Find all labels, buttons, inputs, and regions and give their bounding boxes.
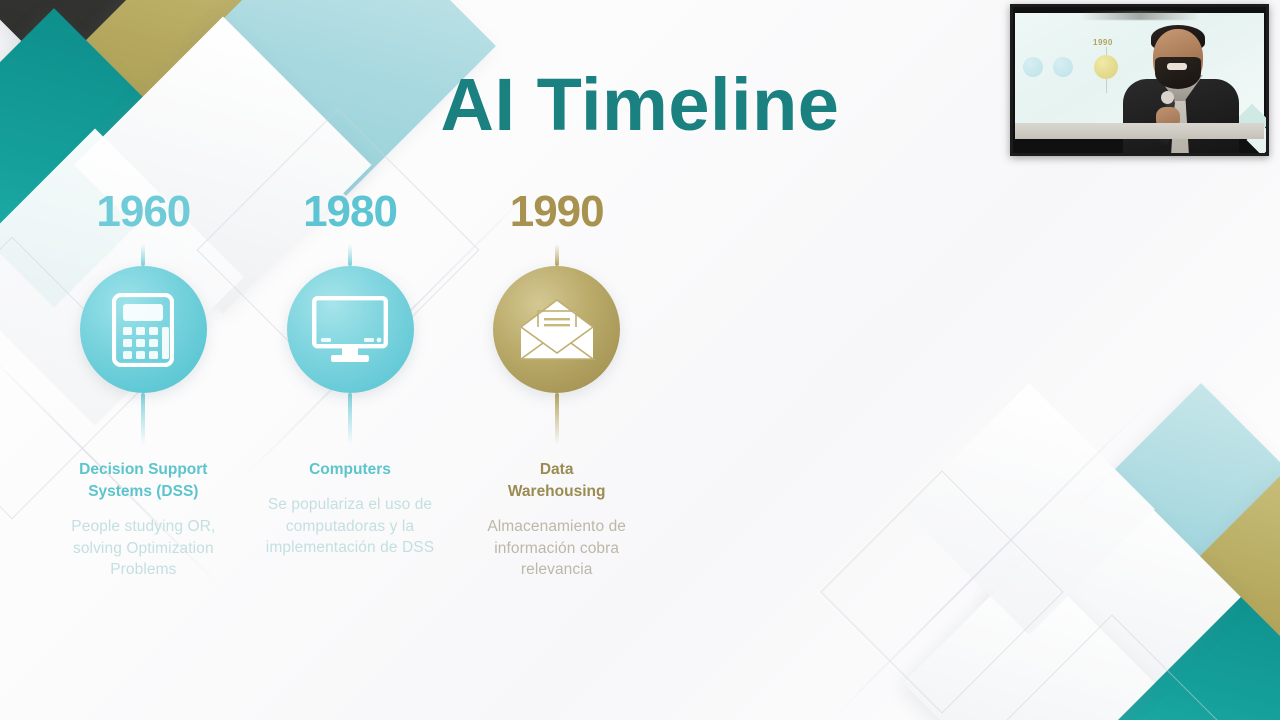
projected-year-label: 1990 (1093, 38, 1113, 47)
presenter-mouth (1167, 63, 1187, 70)
timeline-heading-1990: Data Warehousing (492, 459, 622, 503)
timeline-stem-bottom-1980 (348, 393, 352, 445)
presenter-beard (1155, 57, 1201, 89)
timeline: 1960 (40, 190, 660, 620)
timeline-bubble-1980 (287, 266, 414, 393)
timeline-entry-1980: 1980 Computers Se populariza el uso de c… (247, 190, 454, 620)
projected-stem-2 (1106, 79, 1107, 93)
timeline-bubble-1960 (80, 266, 207, 393)
microphone-head-icon (1161, 91, 1174, 104)
projected-slide-background: 1990 (1015, 13, 1264, 139)
timeline-year-1960: 1960 (96, 190, 190, 234)
projected-slide-title (1080, 11, 1200, 20)
projected-bubble-2 (1053, 57, 1073, 77)
envelope-icon (516, 297, 598, 363)
presenter-video-frame: 1990 (1013, 7, 1266, 153)
calculator-icon (112, 293, 174, 367)
timeline-body-1980: Se populariza el uso de computadoras y l… (259, 494, 441, 559)
timeline-stem-bottom-1960 (141, 393, 145, 445)
timeline-heading-1980: Computers (309, 459, 391, 481)
timeline-bubble-1990 (493, 266, 620, 393)
presenter-video-overlay[interactable]: 1990 (1010, 4, 1269, 156)
timeline-stem-top-1980 (348, 244, 352, 266)
timeline-entry-1990: 1990 Data Warehousing (453, 190, 660, 620)
projected-floor (1015, 123, 1264, 139)
timeline-year-1980: 1980 (303, 190, 397, 234)
timeline-heading-1960: Decision Support Systems (DSS) (51, 459, 236, 503)
timeline-body-1990: Almacenamiento de información cobra rele… (466, 516, 648, 581)
monitor-icon (312, 296, 388, 364)
timeline-entry-1960: 1960 (40, 190, 247, 620)
timeline-stem-bottom-1990 (555, 393, 559, 445)
timeline-body-1960: People studying OR, solving Optimization… (52, 516, 234, 581)
timeline-stem-top-1960 (141, 244, 145, 266)
projected-bubble-3 (1094, 55, 1118, 79)
projected-stem (1106, 47, 1107, 55)
slide-canvas: AI Timeline 1960 (0, 0, 1280, 720)
timeline-year-1990: 1990 (510, 190, 604, 234)
timeline-stem-top-1990 (555, 244, 559, 266)
projected-bubble-1 (1023, 57, 1043, 77)
